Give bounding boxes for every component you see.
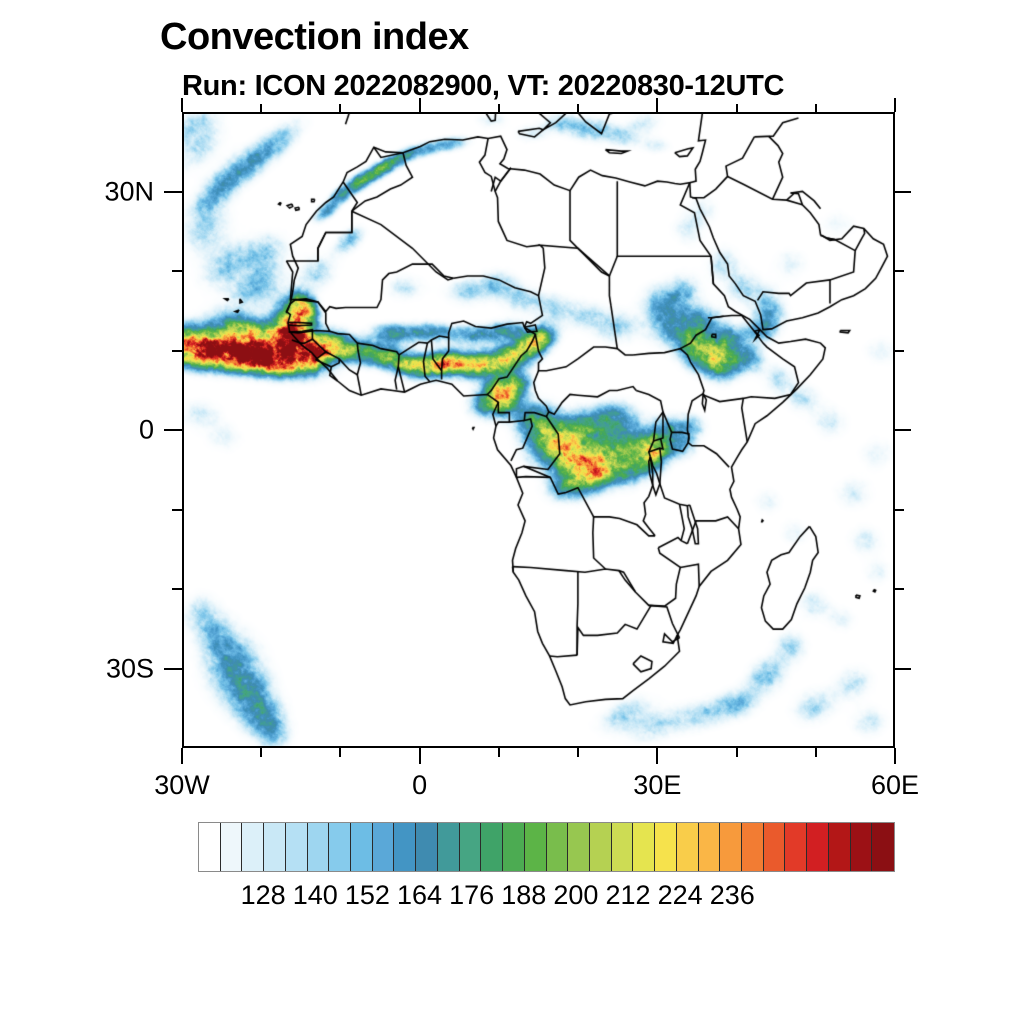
colorbar-cell: [394, 823, 416, 871]
colorbar-cell: [351, 823, 373, 871]
colorbar-cell: [286, 823, 308, 871]
colorbar-tick-label: 128: [241, 880, 286, 911]
run-valid-time: Run: ICON 2022082900, VT: 20220830-12UTC: [182, 70, 784, 103]
x-tick-major-top: [656, 98, 658, 112]
colorbar-cell: [503, 823, 525, 871]
colorbar-tick-label: 200: [553, 880, 598, 911]
colorbar-labels: 128140152164176188200212224236: [0, 880, 1024, 920]
x-tick-minor: [498, 748, 500, 757]
colorbar-cell: [547, 823, 569, 871]
y-tick-minor-right: [895, 270, 904, 272]
colorbar-cell: [590, 823, 612, 871]
x-tick-minor: [339, 748, 341, 757]
x-axis-label: 30E: [633, 770, 681, 801]
x-axis-label: 30W: [154, 770, 210, 801]
x-tick-minor: [577, 748, 579, 757]
y-tick-major: [164, 668, 182, 670]
colorbar-cell: [264, 823, 286, 871]
colorbar-cell: [742, 823, 764, 871]
colorbar-cell: [633, 823, 655, 871]
colorbar-tick-label: 176: [449, 880, 494, 911]
x-tick-minor-top: [498, 104, 500, 112]
y-tick-major-right: [895, 429, 911, 431]
colorbar-cell: [438, 823, 460, 871]
x-tick-minor-top: [577, 104, 579, 112]
x-tick-minor: [736, 748, 738, 757]
map-plot-area: [182, 112, 895, 748]
x-axis-label: 0: [412, 770, 427, 801]
colorbar-cell: [785, 823, 807, 871]
colorbar-cell: [460, 823, 482, 871]
colorbar-cell: [720, 823, 742, 871]
convection-heatmap-canvas: [184, 114, 893, 746]
y-tick-major: [164, 429, 182, 431]
colorbar-cell: [481, 823, 503, 871]
convection-index-figure: Convection index Run: ICON 2022082900, V…: [0, 0, 1024, 1024]
colorbar-cell: [373, 823, 395, 871]
x-tick-minor: [815, 748, 817, 757]
x-tick-major: [181, 748, 183, 764]
x-tick-minor-top: [736, 104, 738, 112]
colorbar-cell: [851, 823, 873, 871]
y-tick-minor-right: [895, 509, 904, 511]
colorbar-tick-label: 236: [710, 880, 755, 911]
x-tick-major: [656, 748, 658, 764]
y-tick-minor-right: [895, 350, 904, 352]
colorbar-cell: [677, 823, 699, 871]
page-title: Convection index: [160, 16, 469, 59]
colorbar[interactable]: [198, 822, 895, 872]
x-tick-major-top: [894, 98, 896, 112]
colorbar-cell: [221, 823, 243, 871]
colorbar-tick-label: 152: [345, 880, 390, 911]
y-tick-minor-right: [895, 588, 904, 590]
colorbar-cell: [329, 823, 351, 871]
y-tick-minor: [172, 509, 182, 511]
x-tick-major: [419, 748, 421, 764]
y-tick-major-right: [895, 668, 911, 670]
x-tick-minor: [260, 748, 262, 757]
colorbar-cell: [872, 823, 894, 871]
y-tick-minor: [172, 270, 182, 272]
colorbar-tick-label: 224: [658, 880, 703, 911]
colorbar-cell: [525, 823, 547, 871]
x-axis-label: 60E: [871, 770, 919, 801]
colorbar-cell: [308, 823, 330, 871]
colorbar-cell: [807, 823, 829, 871]
y-axis-label: 30N: [20, 176, 154, 207]
x-tick-major-top: [419, 98, 421, 112]
y-axis-label: 0: [20, 415, 154, 446]
y-axis-label: 30S: [20, 653, 154, 684]
colorbar-cell: [829, 823, 851, 871]
colorbar-cell: [764, 823, 786, 871]
colorbar-cell: [655, 823, 677, 871]
colorbar-tick-label: 164: [397, 880, 442, 911]
x-tick-major: [894, 748, 896, 764]
colorbar-cell: [199, 823, 221, 871]
colorbar-tick-label: 212: [606, 880, 651, 911]
colorbar-cell: [416, 823, 438, 871]
x-tick-minor-top: [260, 104, 262, 112]
y-tick-minor: [172, 350, 182, 352]
y-tick-major-right: [895, 191, 911, 193]
colorbar-cell: [699, 823, 721, 871]
y-tick-minor: [172, 588, 182, 590]
x-tick-minor-top: [339, 104, 341, 112]
colorbar-cell: [612, 823, 634, 871]
colorbar-cell: [242, 823, 264, 871]
x-tick-minor-top: [815, 104, 817, 112]
colorbar-cell: [568, 823, 590, 871]
colorbar-tick-label: 140: [293, 880, 338, 911]
x-tick-major-top: [181, 98, 183, 112]
y-tick-major: [164, 191, 182, 193]
colorbar-tick-label: 188: [501, 880, 546, 911]
